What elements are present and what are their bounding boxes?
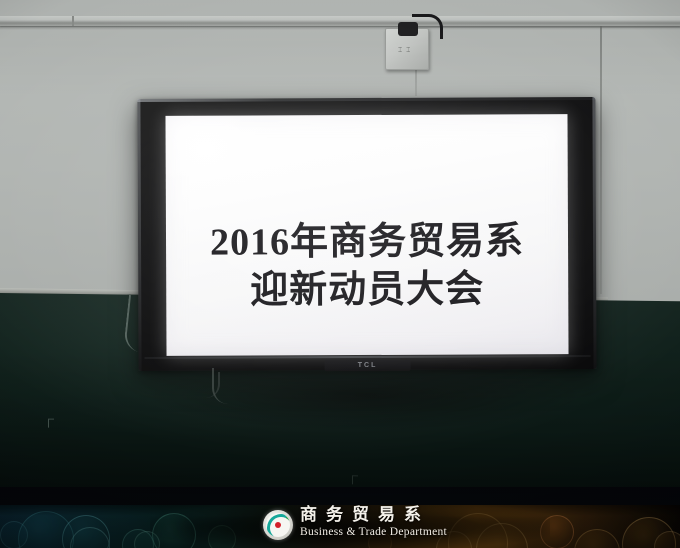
tv-screen: 2016年商务贸易系 迎新动员大会 bbox=[165, 114, 568, 356]
wall-panel-seam-top bbox=[415, 26, 680, 28]
slide-title-line-2: 迎新动员大会 bbox=[250, 267, 484, 312]
wall-mounted-television: 2016年商务贸易系 迎新动员大会 TCL bbox=[137, 97, 596, 371]
department-name-block: 商务贸易系 Business & Trade Department bbox=[300, 505, 447, 539]
slide-title-line-1: 2016年商务贸易系 bbox=[210, 219, 524, 264]
tv-bezel-highlight bbox=[137, 97, 595, 102]
chalk-mark bbox=[352, 475, 358, 484]
emblem-inner-disc bbox=[266, 513, 290, 537]
photo-scene: ⌶ ⌶ 2016年商务贸易系 迎新动员大会 TCL bbox=[0, 0, 680, 548]
power-cable bbox=[412, 14, 443, 39]
department-emblem-logo bbox=[263, 510, 293, 540]
tv-bezel-left-edge bbox=[137, 99, 141, 371]
socket-holes-icon: ⌶ ⌶ bbox=[398, 47, 416, 61]
chalk-mark bbox=[48, 419, 54, 428]
wall-trim-rail bbox=[0, 16, 680, 26]
screen-glare bbox=[165, 114, 265, 194]
wall-trim-seam bbox=[72, 16, 74, 26]
department-name-english: Business & Trade Department bbox=[300, 526, 447, 539]
department-name-chinese: 商务贸易系 bbox=[300, 505, 447, 524]
banner-top-dark-strip bbox=[0, 487, 680, 505]
emblem-center-dot bbox=[275, 522, 281, 528]
wall-panel-seam-right bbox=[600, 26, 602, 294]
